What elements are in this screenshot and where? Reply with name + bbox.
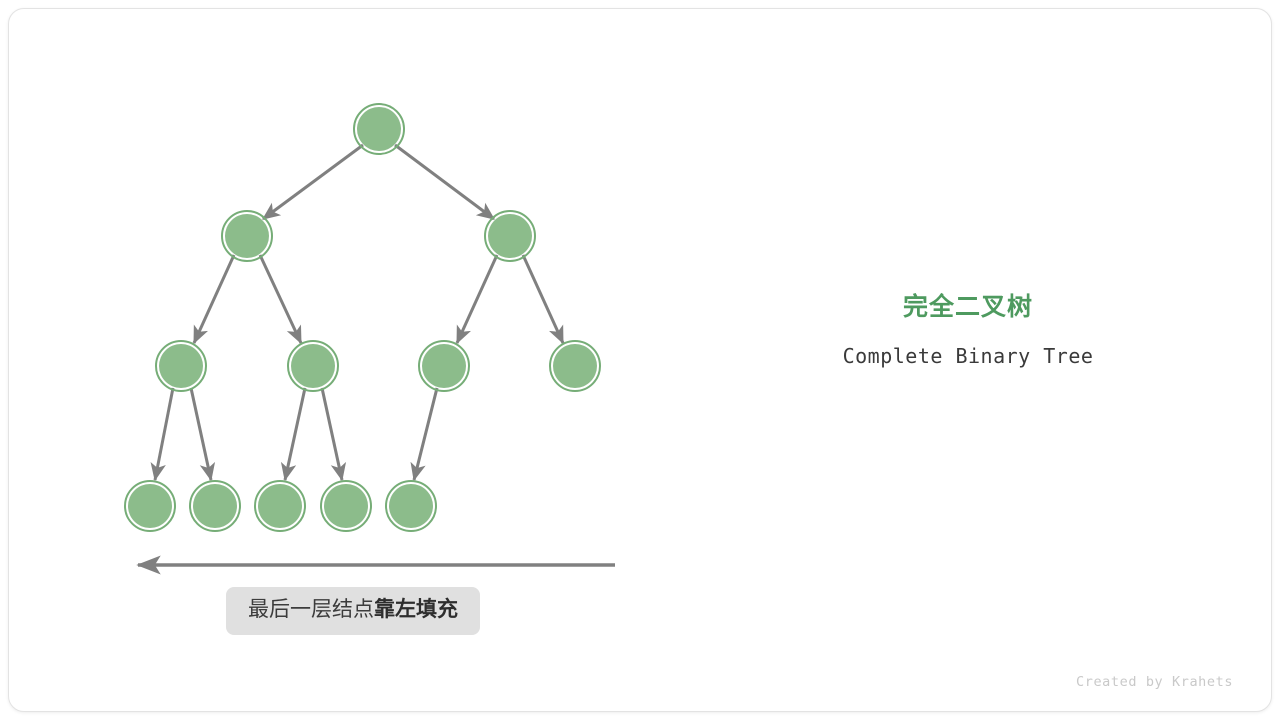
- tree-node-l4-0[interactable]: [125, 481, 175, 531]
- caption-text-normal: 最后一层结点: [248, 598, 374, 621]
- title-block: 完全二叉树 Complete Binary Tree: [790, 292, 1146, 368]
- edge-n3-n7: [155, 388, 173, 480]
- edge-n0-n1: [263, 145, 363, 219]
- caption-text-bold: 靠左填充: [374, 598, 458, 621]
- edge-n4-n9: [285, 388, 305, 480]
- tree-node-l2-1[interactable]: [485, 211, 535, 261]
- page-subtitle: Complete Binary Tree: [790, 344, 1146, 368]
- tree-node-l4-3[interactable]: [321, 481, 371, 531]
- tree-node-l4-2[interactable]: [255, 481, 305, 531]
- edge-n5-n11: [414, 388, 437, 480]
- edge-n4-n10: [322, 388, 342, 480]
- edge-n3-n8: [191, 388, 211, 480]
- edge-n2-n5: [457, 255, 497, 343]
- tree-node-root[interactable]: [354, 104, 404, 154]
- tree-node-l3-2[interactable]: [419, 341, 469, 391]
- edge-n0-n2: [395, 145, 494, 219]
- edge-n1-n4: [260, 255, 301, 343]
- tree-nodes: [125, 104, 600, 531]
- page-title: 完全二叉树: [790, 292, 1146, 322]
- tree-edges: [155, 145, 563, 480]
- credit-label: Created by Krahets: [1076, 674, 1233, 690]
- caption-badge: 最后一层结点靠左填充: [226, 587, 480, 635]
- tree-node-l4-4[interactable]: [386, 481, 436, 531]
- tree-node-l3-1[interactable]: [288, 341, 338, 391]
- tree-node-l4-1[interactable]: [190, 481, 240, 531]
- tree-node-l3-0[interactable]: [156, 341, 206, 391]
- edge-n2-n6: [523, 255, 563, 343]
- diagram-canvas: 完全二叉树 Complete Binary Tree 最后一层结点靠左填充 Cr…: [0, 0, 1280, 720]
- edge-n1-n3: [194, 255, 234, 343]
- tree-node-l2-0[interactable]: [222, 211, 272, 261]
- tree-node-l3-3[interactable]: [550, 341, 600, 391]
